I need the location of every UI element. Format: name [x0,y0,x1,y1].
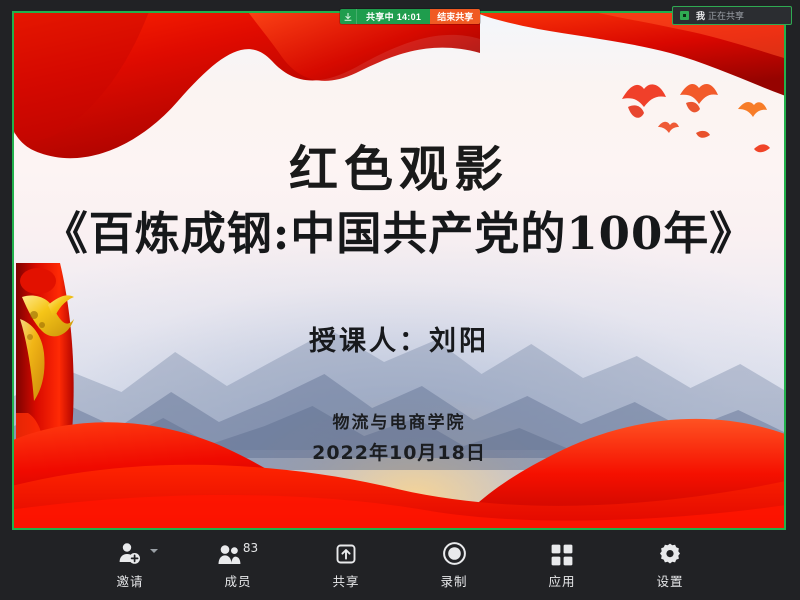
invite-person-add-icon [117,540,143,566]
toolbar-label-share: 共享 [332,571,359,590]
slide-title-main: 红色观影 [289,145,509,194]
members-count-badge: 83 [243,542,258,554]
toolbar-button-members[interactable]: 83 成员 [205,540,271,590]
sharing-state-text: 正在共享 [708,9,744,22]
toolbar-button-settings[interactable]: 设置 [637,540,703,590]
toolbar-label-apps: 应用 [548,571,575,590]
chevron-down-icon[interactable] [150,549,158,553]
end-share-button[interactable]: 结束共享 [430,9,480,24]
slide-presenter: 授课人：刘阳 [309,319,489,358]
toolbar-label-invite: 邀请 [116,571,143,590]
settings-gear-icon [658,540,682,566]
slide-text-block: 红色观影 《百炼成钢:中国共产党的100年》 授课人：刘阳 物流与电商学院 20… [14,13,784,528]
share-status-bar[interactable]: 共享中 14:01 结束共享 [340,9,480,24]
toolbar-label-settings: 设置 [656,571,683,590]
slide-date: 2022年10月18日 [312,438,486,465]
apps-grid-icon [551,540,573,566]
sharing-user-name: 我 [696,9,705,22]
slide-title-sub: 《百炼成钢:中国共产党的100年》 [43,210,756,257]
toolbar-button-record[interactable]: 录制 [421,540,487,590]
sharing-indicator-panel[interactable]: 我 正在共享 [672,6,792,25]
share-arrow-up-icon [334,540,358,566]
toolbar-label-members: 成员 [224,571,251,590]
drag-handle-icon[interactable] [340,9,357,24]
share-status-text: 共享中 14:01 [357,9,430,24]
toolbar-button-share[interactable]: 共享 [313,540,379,590]
screen-share-icon [680,11,689,20]
members-people-icon: 83 [218,540,258,566]
slide-organization: 物流与电商学院 [333,408,466,433]
toolbar-label-record: 录制 [440,571,467,590]
toolbar-button-apps[interactable]: 应用 [529,540,595,590]
meeting-toolbar: 邀请 83 成员 共享 [0,530,800,600]
presentation-slide: 红色观影 《百炼成钢:中国共产党的100年》 授课人：刘阳 物流与电商学院 20… [14,13,784,528]
toolbar-button-invite[interactable]: 邀请 [97,540,163,590]
record-circle-icon [442,540,467,566]
shared-screen-frame: 红色观影 《百炼成钢:中国共产党的100年》 授课人：刘阳 物流与电商学院 20… [12,11,786,530]
